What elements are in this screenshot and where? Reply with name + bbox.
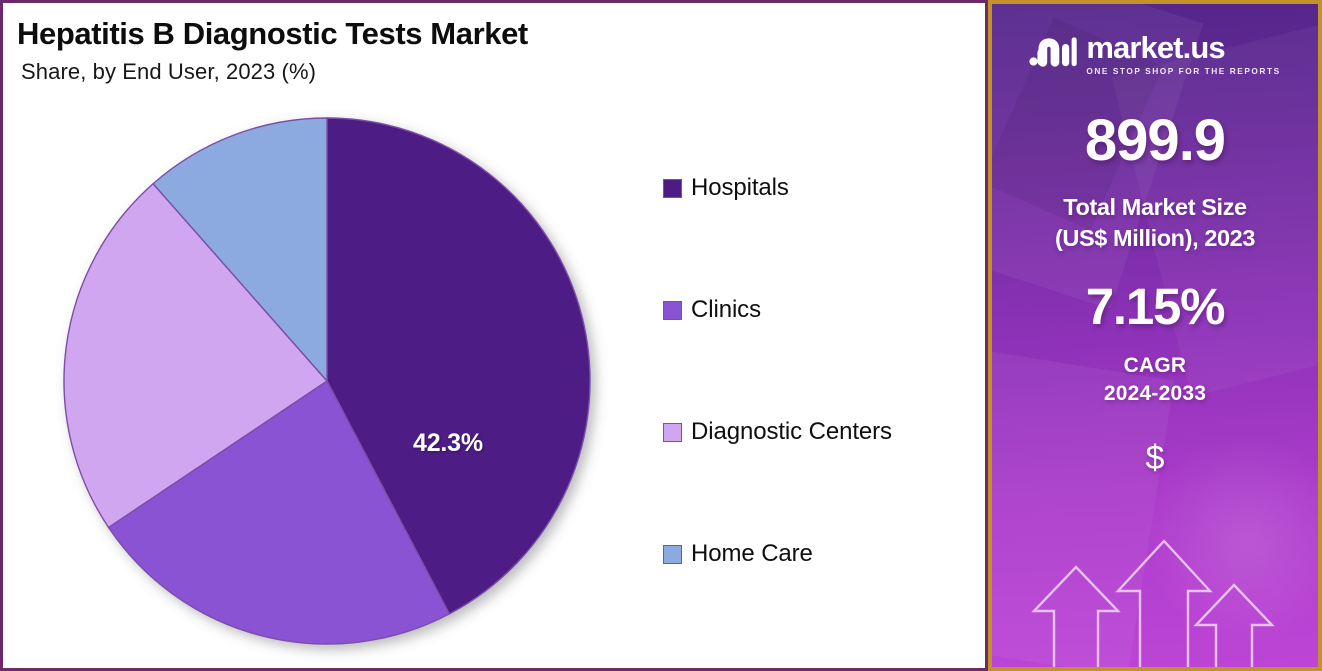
chart-legend: Hospitals Clinics Diagnostic Centers Hom…: [663, 175, 983, 567]
pie-slice-value-label: 42.3%: [413, 429, 483, 458]
cagr-label-line-1: CAGR: [992, 352, 1318, 380]
legend-item-label: Home Care: [691, 540, 813, 568]
brand-logo[interactable]: market.us ONE STOP SHOP FOR THE REPORTS: [992, 32, 1318, 76]
market-size-label-line-2: (US$ Million), 2023: [992, 223, 1318, 254]
legend-swatch-icon: [663, 179, 682, 198]
stats-panel: market.us ONE STOP SHOP FOR THE REPORTS …: [988, 0, 1322, 671]
legend-swatch-icon: [663, 301, 682, 320]
logo-tagline: ONE STOP SHOP FOR THE REPORTS: [1086, 66, 1280, 76]
pie-chart-svg: [61, 113, 597, 651]
legend-item-label: Hospitals: [691, 174, 789, 202]
pie-chart: 42.3%: [61, 113, 597, 651]
logo-wordmark: market.us: [1086, 32, 1280, 63]
cagr-value: 7.15%: [992, 281, 1318, 332]
logo-text: market.us ONE STOP SHOP FOR THE REPORTS: [1086, 32, 1280, 76]
legend-item-diagnostic-centers[interactable]: Diagnostic Centers: [663, 419, 983, 445]
legend-item-label: Clinics: [691, 296, 761, 324]
market-size-label-line-1: Total Market Size: [992, 192, 1318, 223]
cagr-label-line-2: 2024-2033: [992, 380, 1318, 408]
market-size-label: Total Market Size (US$ Million), 2023: [992, 192, 1318, 253]
dollar-sign-icon: $: [992, 441, 1318, 475]
cagr-label: CAGR 2024-2033: [992, 352, 1318, 409]
growth-arrows-icon: [992, 507, 1318, 667]
legend-item-clinics[interactable]: Clinics: [663, 297, 983, 323]
market-size-value: 899.9: [992, 112, 1318, 170]
title-block: Hepatitis B Diagnostic Tests Market Shar…: [17, 17, 917, 85]
chart-panel: Hepatitis B Diagnostic Tests Market Shar…: [0, 0, 988, 671]
market-us-logo-mark-icon: [1029, 34, 1077, 74]
legend-item-home-care[interactable]: Home Care: [663, 541, 983, 567]
legend-swatch-icon: [663, 545, 682, 564]
infographic-root: Hepatitis B Diagnostic Tests Market Shar…: [0, 0, 1322, 671]
legend-swatch-icon: [663, 423, 682, 442]
page-title: Hepatitis B Diagnostic Tests Market: [17, 17, 917, 52]
legend-item-hospitals[interactable]: Hospitals: [663, 175, 983, 201]
legend-item-label: Diagnostic Centers: [691, 418, 892, 446]
chart-subtitle: Share, by End User, 2023 (%): [21, 59, 917, 85]
